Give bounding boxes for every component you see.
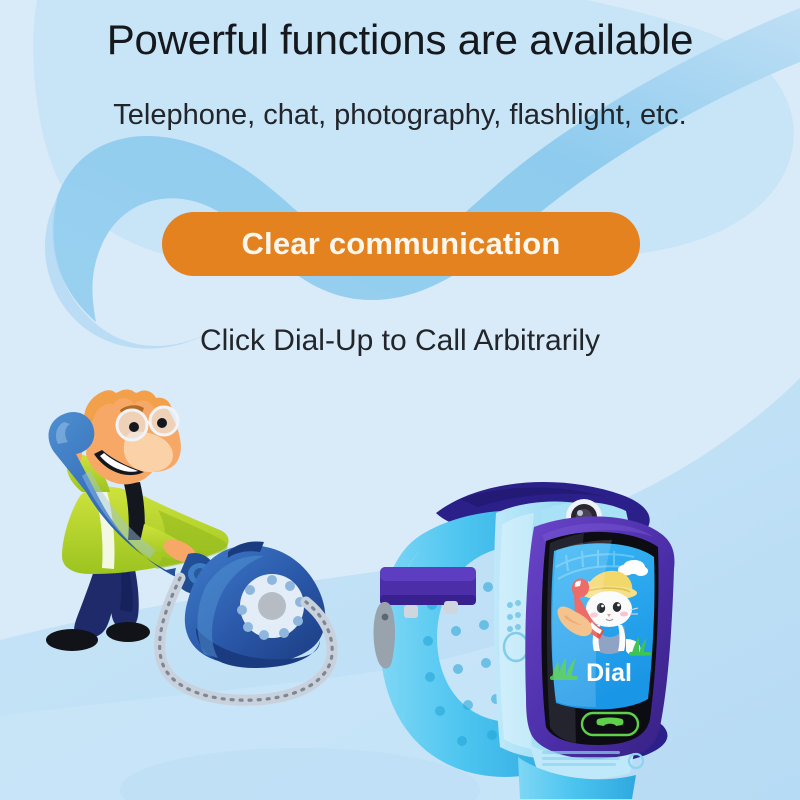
product-banner: Powerful functions are available Telepho…: [0, 0, 800, 800]
page-subtitle: Telephone, chat, photography, flashlight…: [0, 99, 800, 132]
man-head: [84, 390, 181, 485]
clear-communication-button[interactable]: Clear communication: [162, 212, 640, 276]
man-shoe-right: [106, 622, 150, 642]
telephone-illustration: [28, 388, 368, 728]
cta-button-label: Clear communication: [241, 226, 560, 262]
watch-strap-keeper: [380, 567, 476, 605]
watch-screen[interactable]: Dial: [550, 540, 655, 709]
cta-caption: Click Dial-Up to Call Arbitrarily: [0, 324, 800, 358]
page-title: Powerful functions are available: [0, 16, 800, 64]
smartwatch-illustration: Dial: [360, 455, 700, 800]
man-shoe-left: [46, 629, 98, 651]
